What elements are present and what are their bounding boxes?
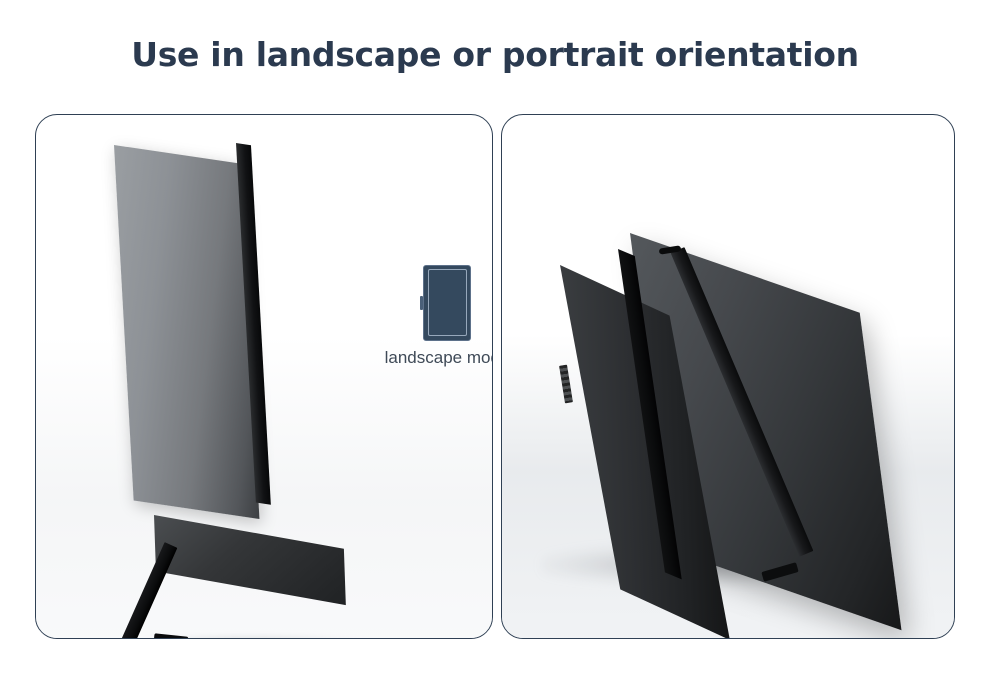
kickstand-arm bbox=[120, 542, 178, 639]
landscape-orientation-card[interactable]: landscape mode (Vertical screen mode is … bbox=[35, 114, 493, 639]
monitor-ports-vent bbox=[559, 365, 573, 404]
monitor-bottom-bezel bbox=[154, 515, 346, 605]
monitor-screen-panel bbox=[114, 145, 259, 519]
portrait-monitor-icon bbox=[423, 265, 471, 341]
landscape-mode-label: landscape mode bbox=[362, 348, 493, 368]
landscape-mode-badge: landscape mode bbox=[362, 265, 493, 368]
monitor-rear-aframe-illustration bbox=[502, 115, 954, 638]
page-title: Use in landscape or portrait orientation bbox=[0, 35, 990, 74]
portrait-orientation-card[interactable]: portrait mode bbox=[501, 114, 955, 639]
monitor-screen-outline bbox=[428, 269, 467, 336]
monitor-portrait-stance-illustration bbox=[36, 115, 492, 638]
